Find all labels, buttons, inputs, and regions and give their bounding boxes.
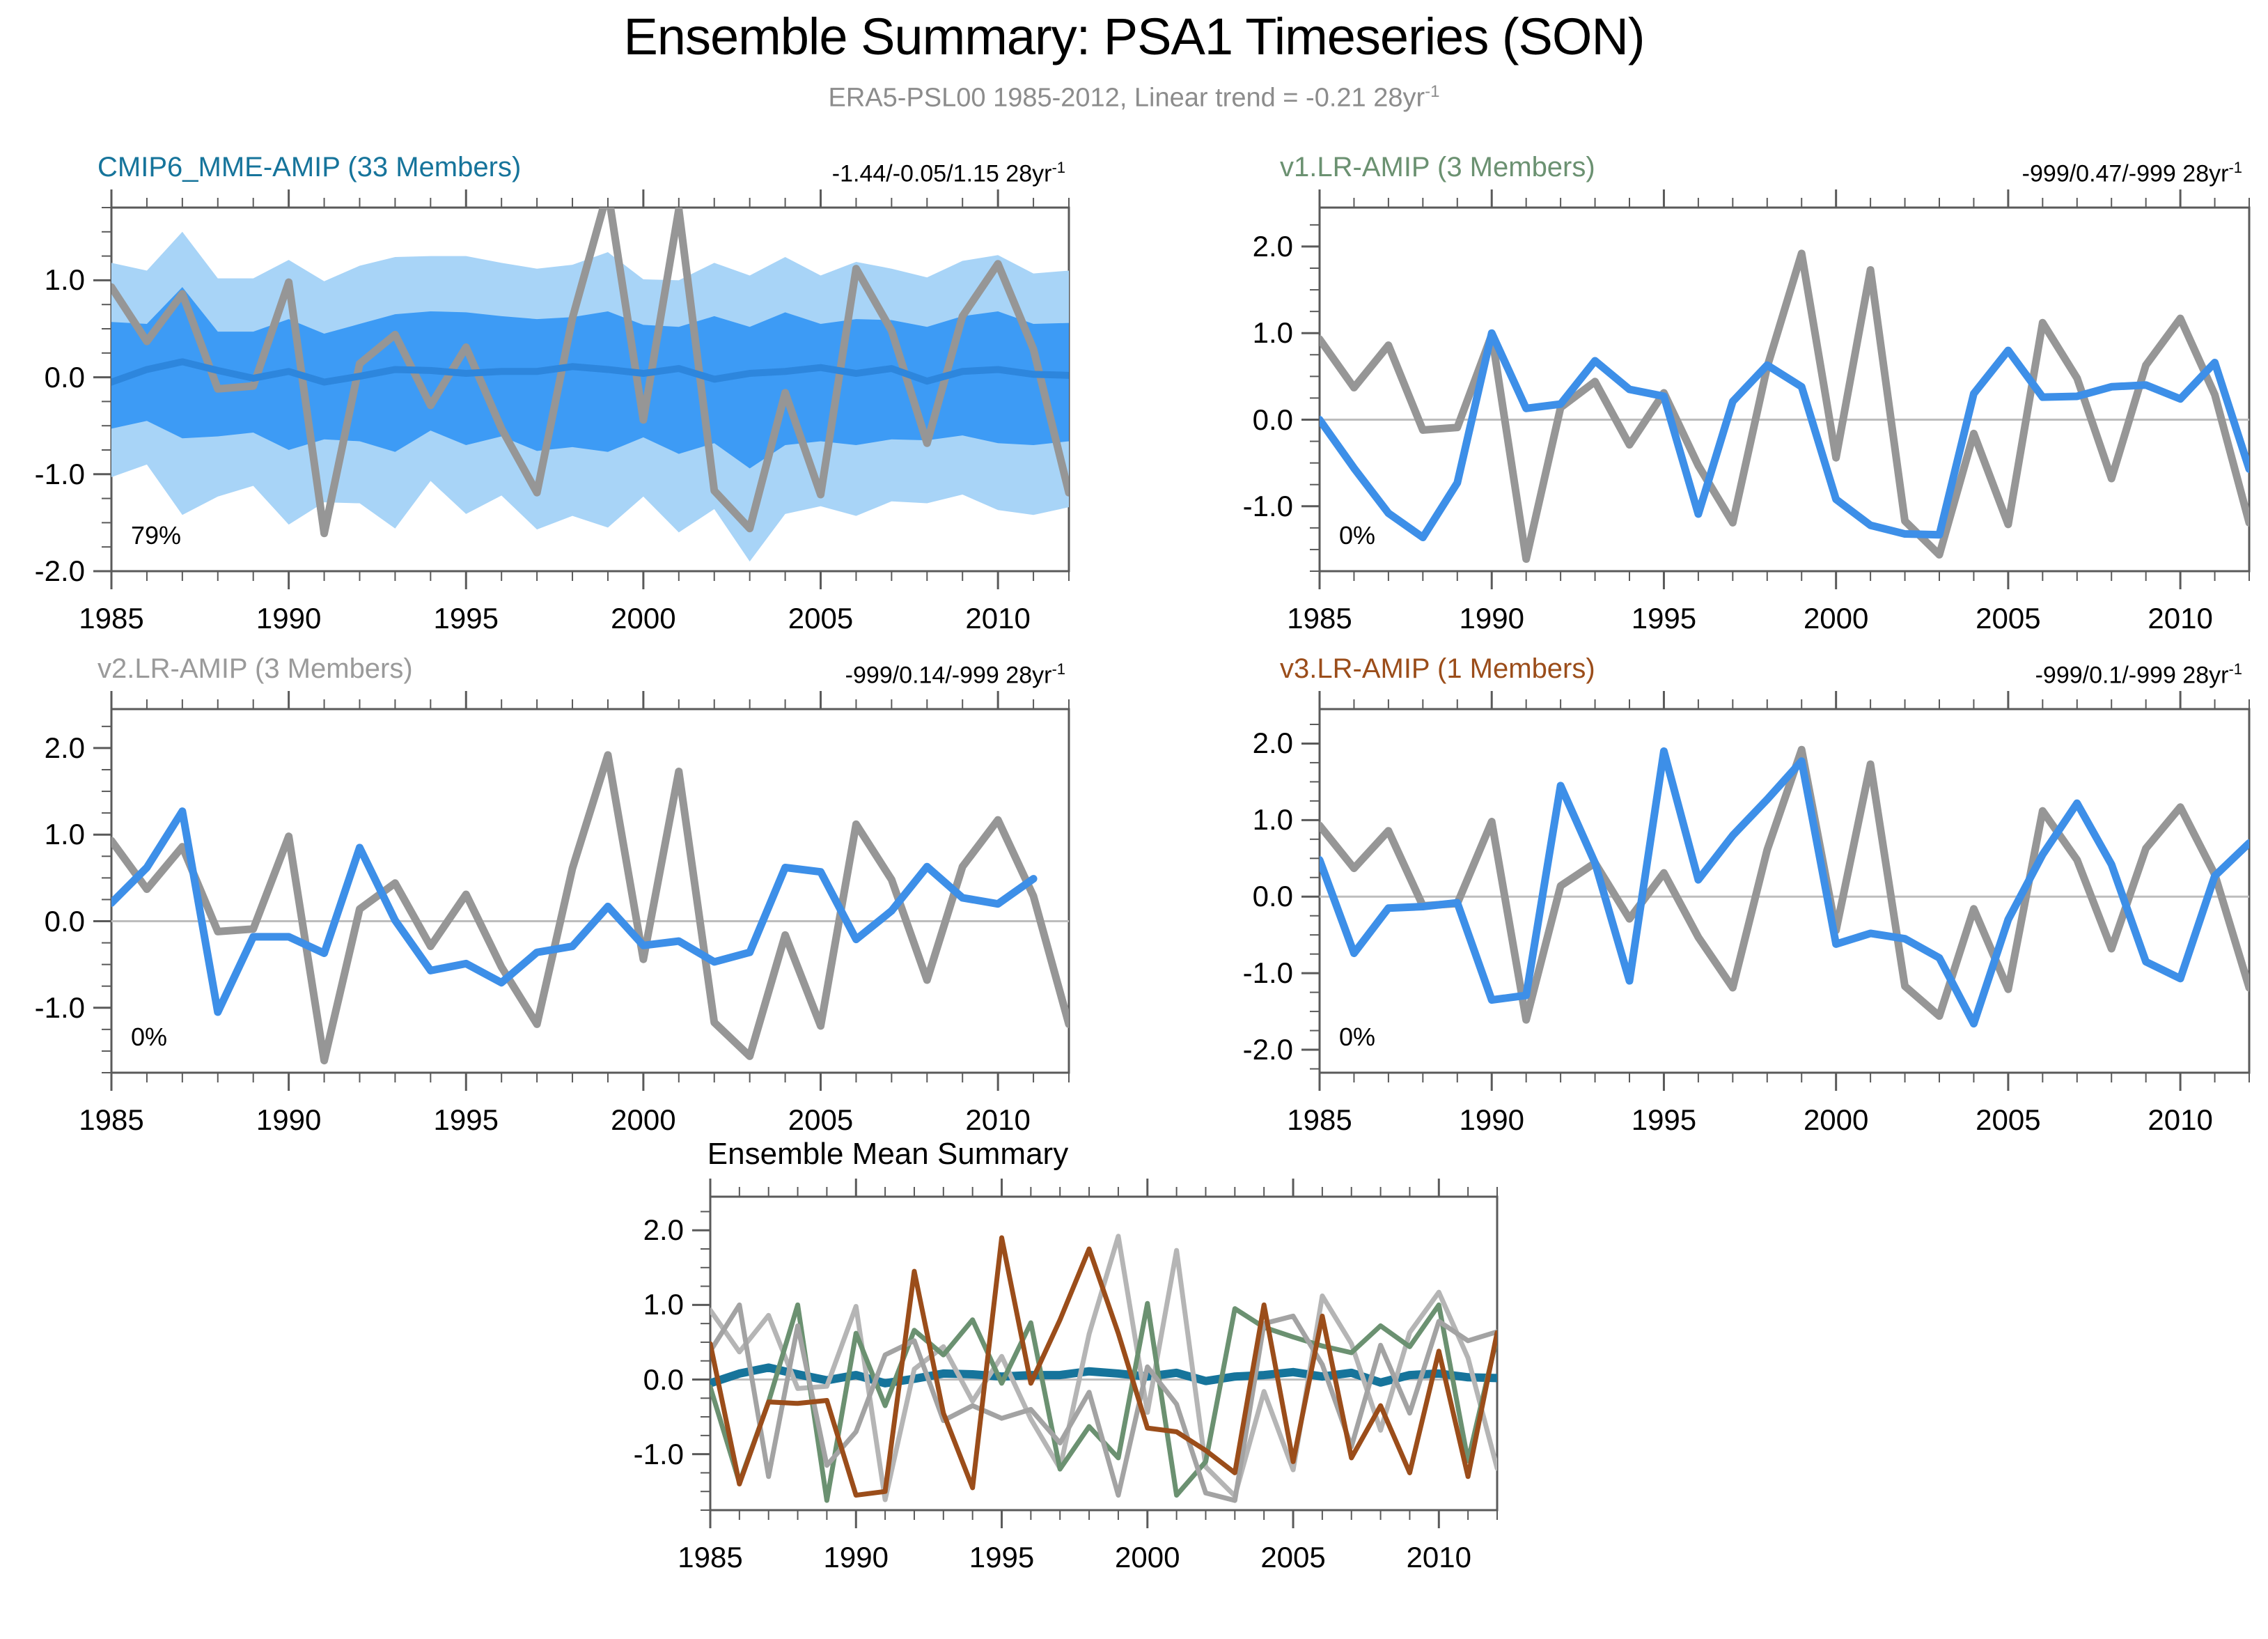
panel3-xtick-label: 2005 (788, 1103, 853, 1137)
panel2-ytick-label: 2.0 (1184, 230, 1293, 263)
panel3-ytick-label: 2.0 (0, 731, 85, 765)
figure-title: Ensemble Summary: PSA1 Timeseries (SON) (0, 7, 2268, 66)
panel2-percent-label: 0% (1339, 521, 1375, 550)
panel3-trend: -999/0.14/-999 28yr-1 (627, 660, 1065, 689)
panel2-xtick-label: 1985 (1287, 602, 1352, 635)
panel1-xtick-label: 1990 (256, 602, 321, 635)
panel5-xtick-label: 1985 (678, 1541, 742, 1574)
panel4-header: v3.LR-AMIP (1 Members) (1280, 653, 1595, 685)
panel3-xtick-label: 1985 (79, 1103, 143, 1137)
panel4-trend-text: -999/0.1/-999 28yr (2035, 662, 2229, 688)
panel2-trend: -999/0.47/-999 28yr-1 (1797, 159, 2242, 187)
panel4-xtick-label: 1995 (1632, 1103, 1696, 1137)
panel1-svg (0, 195, 1114, 613)
panel2-xtick-label: 1995 (1632, 602, 1696, 635)
panel1-ytick-label: -1.0 (0, 458, 85, 491)
panel3-xtick-label: 2010 (965, 1103, 1030, 1137)
panel3-ytick-label: 1.0 (0, 818, 85, 851)
panel4-ytick-label: 2.0 (1184, 727, 1293, 760)
panel3-ytick-label: -1.0 (0, 991, 85, 1025)
panel4-percent-label: 0% (1339, 1023, 1375, 1052)
panel2-header: v1.LR-AMIP (3 Members) (1280, 152, 1595, 183)
panel1-trend: -1.44/-0.05/1.15 28yr-1 (627, 159, 1065, 187)
panel-v3-lr-amip: 2.01.00.0-1.0-2.019851990199520002005201… (1184, 697, 2268, 1114)
panel2-ytick-label: 0.0 (1184, 403, 1293, 437)
panel2-xtick-label: 2005 (1976, 602, 2040, 635)
panel4-ytick-label: -2.0 (1184, 1033, 1293, 1066)
panel3-header: v2.LR-AMIP (3 Members) (97, 653, 413, 685)
panel1-xtick-label: 2005 (788, 602, 853, 635)
panel1-percent-label: 79% (131, 521, 181, 550)
figure-subtitle-exponent: -1 (1425, 82, 1439, 101)
panel4-xtick-label: 1985 (1287, 1103, 1352, 1137)
panel3-trend-exponent: -1 (1051, 660, 1065, 678)
panel2-xtick-label: 2000 (1804, 602, 1868, 635)
panel3-percent-label: 0% (131, 1023, 167, 1052)
panel3-ytick-label: 0.0 (0, 905, 85, 938)
panel4-xtick-label: 2005 (1976, 1103, 2040, 1137)
panel5-xtick-label: 2000 (1115, 1541, 1180, 1574)
panel4-ytick-label: 0.0 (1184, 880, 1293, 913)
panel4-ytick-label: -1.0 (1184, 956, 1293, 990)
panel5-xtick-label: 1990 (824, 1541, 889, 1574)
panel4-xtick-label: 2000 (1804, 1103, 1868, 1137)
panel5-xtick-label: 2010 (1407, 1541, 1471, 1574)
panel4-xtick-label: 1990 (1460, 1103, 1524, 1137)
panel2-xtick-label: 2010 (2148, 602, 2212, 635)
panel3-xtick-label: 1995 (434, 1103, 499, 1137)
panel-cmip6-mme-amip: 1.00.0-1.0-2.019851990199520002005201079… (0, 195, 1114, 613)
panel5-ytick-label: 2.0 (578, 1213, 684, 1247)
panel1-trend-exponent: -1 (1051, 159, 1065, 176)
panel2-ytick-label: 1.0 (1184, 316, 1293, 350)
panel4-trend-exponent: -1 (2228, 660, 2242, 678)
panel2-ytick-label: -1.0 (1184, 490, 1293, 523)
panel-v1-lr-amip: 2.01.00.0-1.01985199019952000200520100% (1184, 195, 2268, 613)
panel1-ytick-label: 1.0 (0, 263, 85, 297)
panel1-ytick-label: -2.0 (0, 554, 85, 588)
panel4-trend: -999/0.1/-999 28yr-1 (1797, 660, 2242, 689)
panel1-header: CMIP6_MME-AMIP (33 Members) (97, 152, 521, 183)
panel2-trend-text: -999/0.47/-999 28yr (2022, 160, 2229, 187)
panel3-xtick-label: 1990 (256, 1103, 321, 1137)
panel3-xtick-label: 2000 (611, 1103, 675, 1137)
panel-v2-lr-amip: 2.01.00.0-1.01985199019952000200520100% (0, 697, 1114, 1114)
panel3-svg (0, 697, 1114, 1114)
panel5-xtick-label: 2005 (1260, 1541, 1325, 1574)
panel3-trend-text: -999/0.14/-999 28yr (845, 662, 1052, 688)
panel1-xtick-label: 2010 (965, 602, 1030, 635)
panel5-ytick-label: -1.0 (578, 1438, 684, 1471)
panel5-xtick-label: 1995 (969, 1541, 1034, 1574)
figure-subtitle: ERA5-PSL00 1985-2012, Linear trend = -0.… (0, 82, 2268, 114)
figure-subtitle-text: ERA5-PSL00 1985-2012, Linear trend = -0.… (829, 84, 1425, 113)
panel1-ytick-label: 0.0 (0, 361, 85, 394)
panel2-svg (1184, 195, 2268, 613)
panel5-ytick-label: 1.0 (578, 1288, 684, 1321)
panel4-ytick-label: 1.0 (1184, 803, 1293, 837)
panel4-svg (1184, 697, 2268, 1114)
panel2-xtick-label: 1990 (1460, 602, 1524, 635)
panel2-trend-exponent: -1 (2228, 159, 2242, 176)
panel1-xtick-label: 1995 (434, 602, 499, 635)
panel5-ytick-label: 0.0 (578, 1363, 684, 1397)
panel1-xtick-label: 2000 (611, 602, 675, 635)
panel4-xtick-label: 2010 (2148, 1103, 2212, 1137)
panel1-trend-text: -1.44/-0.05/1.15 28yr (832, 160, 1052, 187)
panel1-xtick-label: 1985 (79, 602, 143, 635)
panel-ensemble-mean-summary: 2.01.00.0-1.0198519901995200020052010 (578, 1184, 1692, 1616)
panel5-header: Ensemble Mean Summary (707, 1137, 1068, 1172)
plot-frame (111, 709, 1069, 1073)
figure-canvas: Ensemble Summary: PSA1 Timeseries (SON) … (0, 0, 2268, 1639)
